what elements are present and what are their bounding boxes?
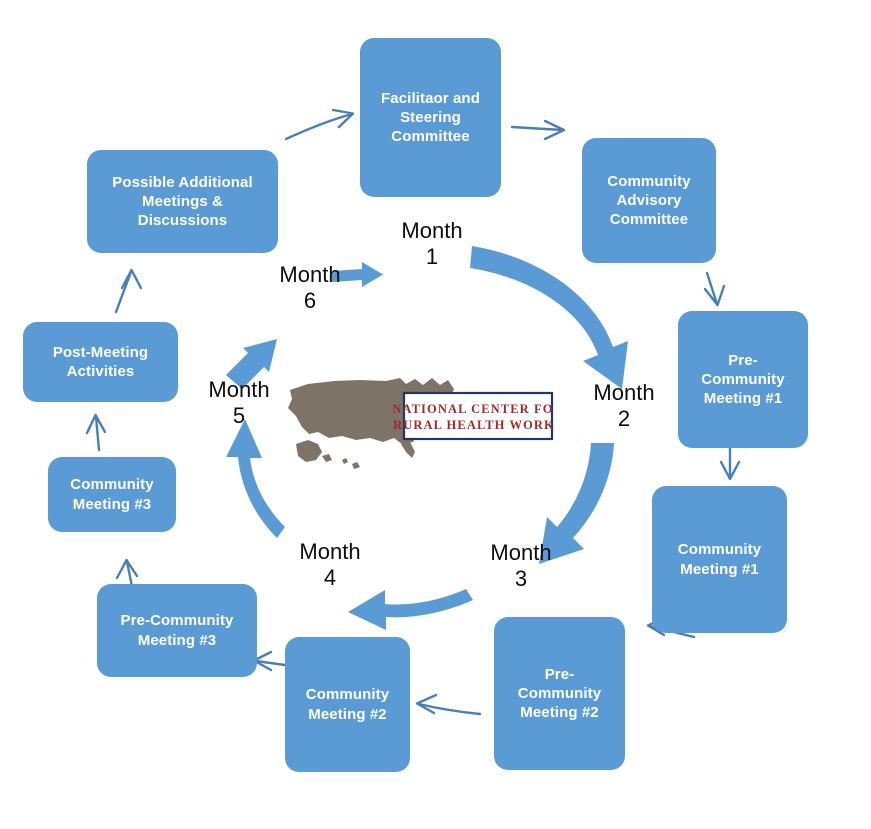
cycle-arrow-month1-to-month2: [470, 246, 628, 389]
node-label: Pre-Community Meeting #3: [121, 611, 234, 649]
arrow-facilitator-to-advisory: [512, 121, 564, 139]
month-1-label: Month 1: [378, 218, 486, 269]
arrow-advisory-to-pre1: [705, 273, 724, 305]
node-post-meeting-activities[interactable]: Post-Meeting Activities: [23, 322, 178, 402]
month-1-text: Month 1: [401, 218, 462, 269]
month-2-text: Month 2: [593, 380, 654, 431]
node-label: Post-Meeting Activities: [53, 343, 148, 381]
node-pre-community-meeting-3[interactable]: Pre-Community Meeting #3: [97, 584, 257, 677]
month-6-text: Month 6: [279, 262, 340, 313]
node-facilitator-steering-committee[interactable]: Facilitaor and Steering Committee: [360, 38, 501, 197]
logo-line-2: RURAL HEALTH WORKS: [393, 418, 554, 432]
node-pre-community-meeting-1[interactable]: Pre- Community Meeting #1: [678, 311, 808, 448]
node-label: Possible Additional Meetings & Discussio…: [112, 173, 253, 231]
national-center-rural-health-works-logo: NATIONAL CENTER FOR RURAL HEALTH WORKS: [282, 372, 554, 477]
month-4-text: Month 4: [299, 539, 360, 590]
node-possible-additional-meetings[interactable]: Possible Additional Meetings & Discussio…: [87, 150, 278, 253]
node-community-meeting-1[interactable]: Community Meeting #1: [652, 486, 787, 633]
cycle-arrow-month4-to-month5: [226, 419, 285, 538]
month-5-label: Month 5: [185, 377, 293, 428]
month-3-text: Month 3: [490, 540, 551, 591]
arrow-post-to-additional: [116, 270, 141, 312]
cycle-arrow-month3-to-month4: [348, 589, 473, 630]
node-label: Community Meeting #1: [678, 540, 761, 578]
month-3-label: Month 3: [467, 540, 575, 591]
node-label: Community Meeting #3: [70, 475, 153, 513]
arrow-additional-to-facilitator: [286, 110, 353, 139]
node-label: Pre- Community Meeting #2: [518, 665, 601, 723]
arrow-cm3-to-post: [87, 415, 105, 450]
logo-line-1: NATIONAL CENTER FOR: [392, 402, 554, 416]
node-community-meeting-3[interactable]: Community Meeting #3: [48, 457, 176, 532]
month-5-text: Month 5: [208, 377, 269, 428]
arrow-cm2-to-pre3: [254, 652, 285, 670]
node-community-meeting-2[interactable]: Community Meeting #2: [285, 637, 410, 772]
month-2-label: Month 2: [570, 380, 678, 431]
node-pre-community-meeting-2[interactable]: Pre- Community Meeting #2: [494, 617, 625, 770]
node-label: Pre- Community Meeting #1: [701, 351, 784, 409]
arrow-pre2-to-cm2: [417, 695, 480, 714]
logo-text-box: [404, 393, 552, 439]
process-cycle-diagram: .thin{fill:none;stroke:#4a7fb5;stroke-wi…: [0, 0, 871, 829]
node-label: Community Meeting #2: [306, 685, 389, 723]
node-label: Facilitaor and Steering Committee: [381, 89, 480, 147]
arrow-pre1-to-cm1: [721, 448, 739, 479]
node-label: Community Advisory Committee: [607, 172, 690, 230]
month-4-label: Month 4: [276, 539, 384, 590]
month-6-label: Month 6: [256, 262, 364, 313]
node-community-advisory-committee[interactable]: Community Advisory Committee: [582, 138, 716, 263]
